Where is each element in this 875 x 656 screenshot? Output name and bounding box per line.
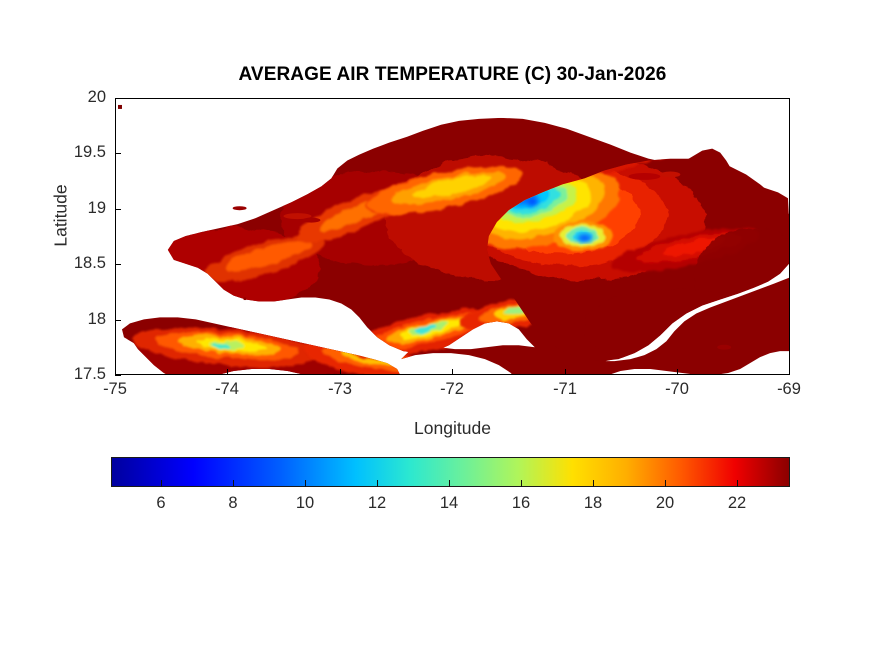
xtick-label: -74 (197, 380, 257, 399)
colorbar-tick-label: 20 (640, 494, 690, 513)
temperature-heatmap (116, 99, 789, 374)
xtick-label: -70 (647, 380, 707, 399)
figure-canvas: AVERAGE AIR TEMPERATURE (C) 30-Jan-2026 (0, 0, 875, 656)
xtick-mark (340, 369, 341, 375)
colorbar-tick-label: 18 (568, 494, 618, 513)
colorbar-tick-label: 6 (136, 494, 186, 513)
xtick-label: -69 (759, 380, 819, 399)
colorbar-tick-label: 16 (496, 494, 546, 513)
ytick-label: 17.5 (48, 365, 106, 384)
colorbar-tick-label: 10 (280, 494, 330, 513)
colorbar-tick (449, 480, 450, 487)
xtick-mark (789, 369, 790, 375)
ytick-mark (115, 209, 121, 210)
xtick-mark (452, 369, 453, 375)
ytick-mark (115, 320, 121, 321)
colorbar-tick (665, 480, 666, 487)
ytick-mark (115, 153, 121, 154)
colorbar-tick-label: 14 (424, 494, 474, 513)
colorbar-tick (233, 480, 234, 487)
xtick-label: -71 (535, 380, 595, 399)
ytick-label: 20 (48, 88, 106, 107)
colorbar-tick-label: 22 (712, 494, 762, 513)
xtick-label: -73 (310, 380, 370, 399)
ytick-mark (115, 264, 121, 265)
colorbar-tick (305, 480, 306, 487)
colorbar-tick (521, 480, 522, 487)
colorbar-tick (737, 480, 738, 487)
map-axes (115, 98, 790, 375)
colorbar-tick (593, 480, 594, 487)
chart-title: AVERAGE AIR TEMPERATURE (C) 30-Jan-2026 (115, 64, 790, 86)
x-axis-label: Longitude (115, 418, 790, 439)
colorbar-tick-label: 12 (352, 494, 402, 513)
xtick-mark (677, 369, 678, 375)
colorbar-tick-label: 8 (208, 494, 258, 513)
ytick-mark (115, 98, 121, 99)
colorbar (111, 457, 790, 487)
y-axis-label: Latitude (51, 141, 72, 291)
xtick-mark (227, 369, 228, 375)
colorbar-tick (161, 480, 162, 487)
ytick-mark (115, 375, 121, 376)
xtick-mark (565, 369, 566, 375)
colorbar-tick (377, 480, 378, 487)
xtick-label: -72 (422, 380, 482, 399)
ytick-label: 18 (48, 310, 106, 329)
colorbar-gradient (111, 457, 790, 487)
